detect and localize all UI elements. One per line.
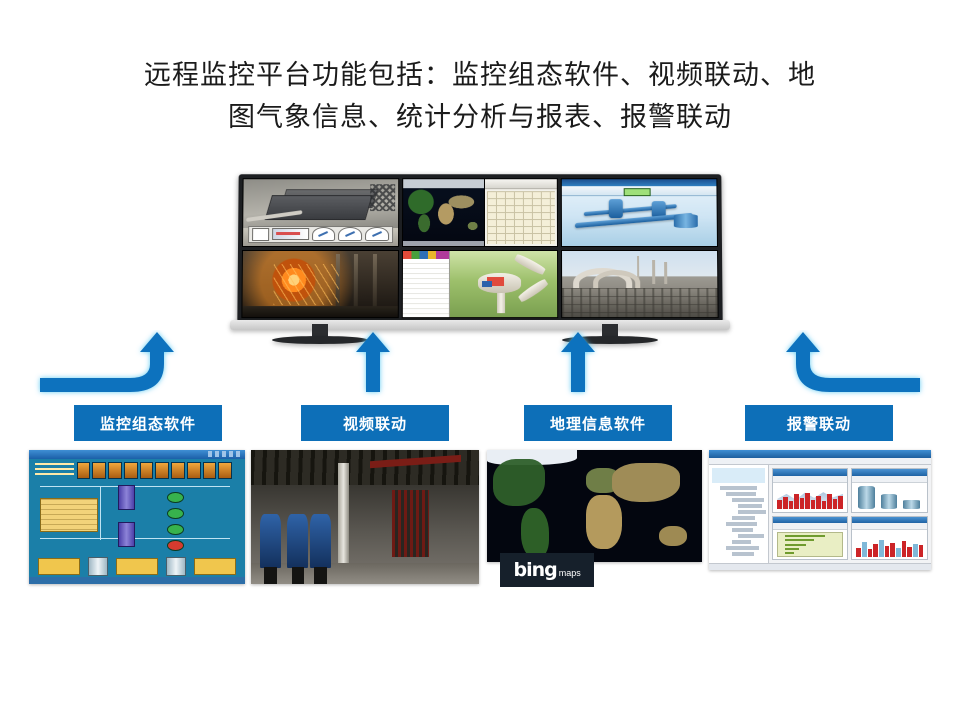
indicator-box-icon	[252, 228, 269, 241]
panel-chart-area	[852, 483, 927, 512]
arrow-4-curve-left-up	[786, 332, 920, 392]
cylinder-bar	[858, 486, 874, 509]
refinery-stack	[652, 260, 655, 284]
h-bar	[785, 539, 814, 541]
plate-heat-exchanger	[392, 490, 428, 557]
bi-window	[709, 450, 931, 570]
bing-maps-logo: bing maps	[500, 553, 595, 587]
panel-color-tabs	[403, 250, 449, 259]
panel-chart-area	[773, 530, 848, 559]
scada-display-panel	[624, 188, 651, 195]
world-map-view	[403, 179, 484, 245]
pipe-riser-left	[608, 199, 622, 218]
tree-node[interactable]	[726, 492, 756, 496]
arrow-3-straight-up	[561, 332, 595, 392]
pipe-tank	[673, 214, 698, 229]
hmi-bottom-widgets	[38, 557, 237, 576]
label-alarm-button[interactable]: 报警联动	[745, 405, 893, 441]
south-america-landmass	[521, 508, 549, 557]
bi-chart-panels	[769, 465, 931, 563]
hmi-valve-indicator-ok	[167, 524, 184, 535]
bi-navigation-tree[interactable]	[709, 465, 769, 563]
panel-header	[852, 517, 927, 524]
bing-wordmark: bing	[514, 559, 557, 581]
green-chart-plot	[777, 532, 843, 558]
tree-node[interactable]	[738, 504, 762, 508]
molten-sparks	[273, 264, 338, 305]
wall-screen-2-world-map-and-spreadsheet[interactable]	[402, 178, 559, 246]
hmi-tool-icon[interactable]	[171, 462, 185, 479]
asia-landmass	[612, 463, 681, 501]
mill-column	[354, 254, 358, 306]
hmi-tool-icon[interactable]	[124, 462, 138, 479]
pump-room-photo	[251, 450, 479, 584]
blue-pump	[287, 514, 308, 568]
hmi-screen	[29, 450, 245, 584]
hmi-heat-exchanger	[118, 522, 135, 547]
tree-node[interactable]	[726, 522, 757, 526]
hmi-valve-indicator-ok	[167, 508, 184, 519]
tree-node[interactable]	[738, 510, 766, 514]
hmi-tool-icon[interactable]	[203, 462, 217, 479]
turbine-data-panel	[402, 250, 450, 317]
spreadsheet-window	[484, 179, 557, 245]
page-title-line-2: 图气象信息、统计分析与报表、报警联动	[80, 97, 880, 139]
label-scada-button[interactable]: 监控组态软件	[74, 405, 222, 441]
bi-title-bar	[709, 450, 931, 458]
video-wall-bezel	[237, 174, 722, 322]
hmi-title-bar	[29, 450, 245, 459]
thumbnail-bing-satellite-map[interactable]: bing maps	[487, 450, 702, 562]
bi-panel-area-bar-chart[interactable]	[772, 468, 849, 512]
hmi-status-bar	[29, 577, 245, 584]
page-title: 远程监控平台功能包括：监控组态软件、视频联动、地 图气象信息、统计分析与报表、报…	[80, 55, 880, 139]
page-title-line-1: 远程监控平台功能包括：监控组态软件、视频联动、地	[80, 55, 880, 97]
tree-node[interactable]	[732, 516, 755, 520]
turbine-3d-view	[450, 250, 558, 317]
panel-chart-area	[773, 483, 848, 512]
spreadsheet-grid	[487, 191, 555, 243]
hmi-pipe-line	[100, 486, 101, 540]
gauge-icon	[312, 227, 336, 241]
gauge-icon	[365, 227, 389, 241]
label-gis-button[interactable]: 地理信息软件	[524, 405, 672, 441]
maps-wordmark: maps	[559, 568, 581, 578]
panel-header	[773, 469, 848, 476]
blue-pump	[310, 514, 331, 568]
cylinder-bar	[881, 494, 897, 509]
label-video-text: 视频联动	[343, 413, 407, 434]
wall-screen-6-refinery-video[interactable]	[561, 249, 718, 318]
hmi-heat-exchanger	[118, 485, 135, 510]
hmi-tool-icon[interactable]	[108, 462, 122, 479]
cylinder-bar	[903, 500, 919, 509]
hmi-tool-icon[interactable]	[218, 462, 232, 479]
h-bar	[785, 544, 807, 546]
turbine-blade	[517, 278, 549, 303]
arrow-1-curve-right-up	[40, 332, 174, 392]
refinery-ground-units	[562, 288, 717, 317]
wall-screen-1-3d-plant-overview[interactable]	[242, 178, 399, 246]
bi-panel-green-bar-chart[interactable]	[772, 516, 849, 560]
wall-screen-5-wind-turbine-3d[interactable]	[401, 249, 558, 318]
hmi-valve-indicator-alarm	[167, 540, 184, 551]
bi-logo	[712, 468, 765, 483]
mill-column	[373, 254, 377, 306]
panel-header	[852, 469, 927, 476]
blue-pump	[260, 514, 281, 568]
video-wall-base-bar	[230, 320, 730, 330]
hmi-valve-indicator-ok	[167, 492, 184, 503]
tree-node[interactable]	[720, 486, 757, 490]
nacelle-component-blue	[482, 281, 492, 287]
bar-series-red	[777, 487, 843, 509]
hmi-caption-block	[35, 463, 74, 478]
bi-body	[709, 465, 931, 563]
flow-arrows	[0, 330, 960, 410]
bing-map-view: bing maps	[487, 450, 702, 562]
panel-chart-area	[852, 530, 927, 559]
column-series	[856, 534, 923, 557]
hmi-tool-icon[interactable]	[92, 462, 106, 479]
hmi-toolbar	[77, 462, 233, 479]
monitor-video-wall	[230, 174, 730, 349]
thumbnail-scada-hmi[interactable]	[29, 450, 245, 584]
hmi-tool-icon[interactable]	[140, 462, 154, 479]
gauge-strip	[248, 226, 393, 243]
level-bar-indicator	[272, 228, 309, 239]
plant-mesh-wall	[370, 185, 395, 211]
h-bar	[785, 552, 794, 554]
h-bar	[785, 535, 826, 537]
africa-landmass	[586, 495, 623, 549]
bi-panel-column-chart[interactable]	[851, 516, 928, 560]
label-gis-text: 地理信息软件	[550, 413, 646, 434]
bi-status-bar	[709, 563, 931, 570]
tree-node[interactable]	[738, 534, 764, 538]
hmi-tool-icon[interactable]	[155, 462, 169, 479]
tree-node[interactable]	[732, 540, 751, 544]
label-video-button[interactable]: 视频联动	[301, 405, 449, 441]
label-alarm-text: 报警联动	[787, 413, 851, 434]
panel-data-rows	[402, 259, 449, 317]
label-scada-text: 监控组态软件	[100, 413, 196, 434]
thumbnail-cctv-pump-room[interactable]	[251, 450, 479, 584]
tree-node[interactable]	[732, 528, 753, 532]
room-floor	[251, 563, 479, 584]
north-america-landmass	[493, 459, 545, 506]
turbine-blade	[514, 253, 546, 276]
arrow-2-straight-up	[356, 332, 390, 392]
thumbnail-bi-dashboard[interactable]	[709, 450, 931, 570]
tree-node[interactable]	[732, 498, 764, 502]
wall-screen-4-steel-mill-video[interactable]	[241, 249, 398, 318]
mill-floor	[242, 306, 397, 317]
hmi-tank	[88, 557, 108, 576]
bi-panel-cylinder-chart[interactable]	[851, 468, 928, 512]
tree-node[interactable]	[726, 546, 759, 550]
hmi-data-table	[40, 498, 98, 532]
hmi-pipe-line	[40, 486, 230, 487]
slide-root: 远程监控平台功能包括：监控组态软件、视频联动、地 图气象信息、统计分析与报表、报…	[0, 0, 960, 720]
gauge-icon	[338, 227, 362, 241]
wall-screen-3-3d-pipework-scada[interactable]	[561, 178, 718, 246]
hmi-tool-icon[interactable]	[187, 462, 201, 479]
support-column	[338, 463, 349, 565]
hmi-pipe-line	[40, 538, 230, 539]
h-bar	[785, 548, 799, 550]
scada-title-bar	[562, 179, 716, 186]
tree-node[interactable]	[732, 552, 754, 556]
hmi-value-box	[38, 558, 80, 575]
refinery-stack	[665, 262, 668, 283]
hmi-value-box	[194, 558, 236, 575]
panel-header	[773, 517, 848, 524]
hmi-tank	[166, 557, 186, 576]
hmi-tool-icon[interactable]	[77, 462, 91, 479]
spreadsheet-toolbar	[485, 179, 557, 189]
hmi-value-box	[116, 558, 158, 575]
bi-menu-bar	[709, 458, 931, 465]
australia-landmass	[659, 526, 687, 546]
